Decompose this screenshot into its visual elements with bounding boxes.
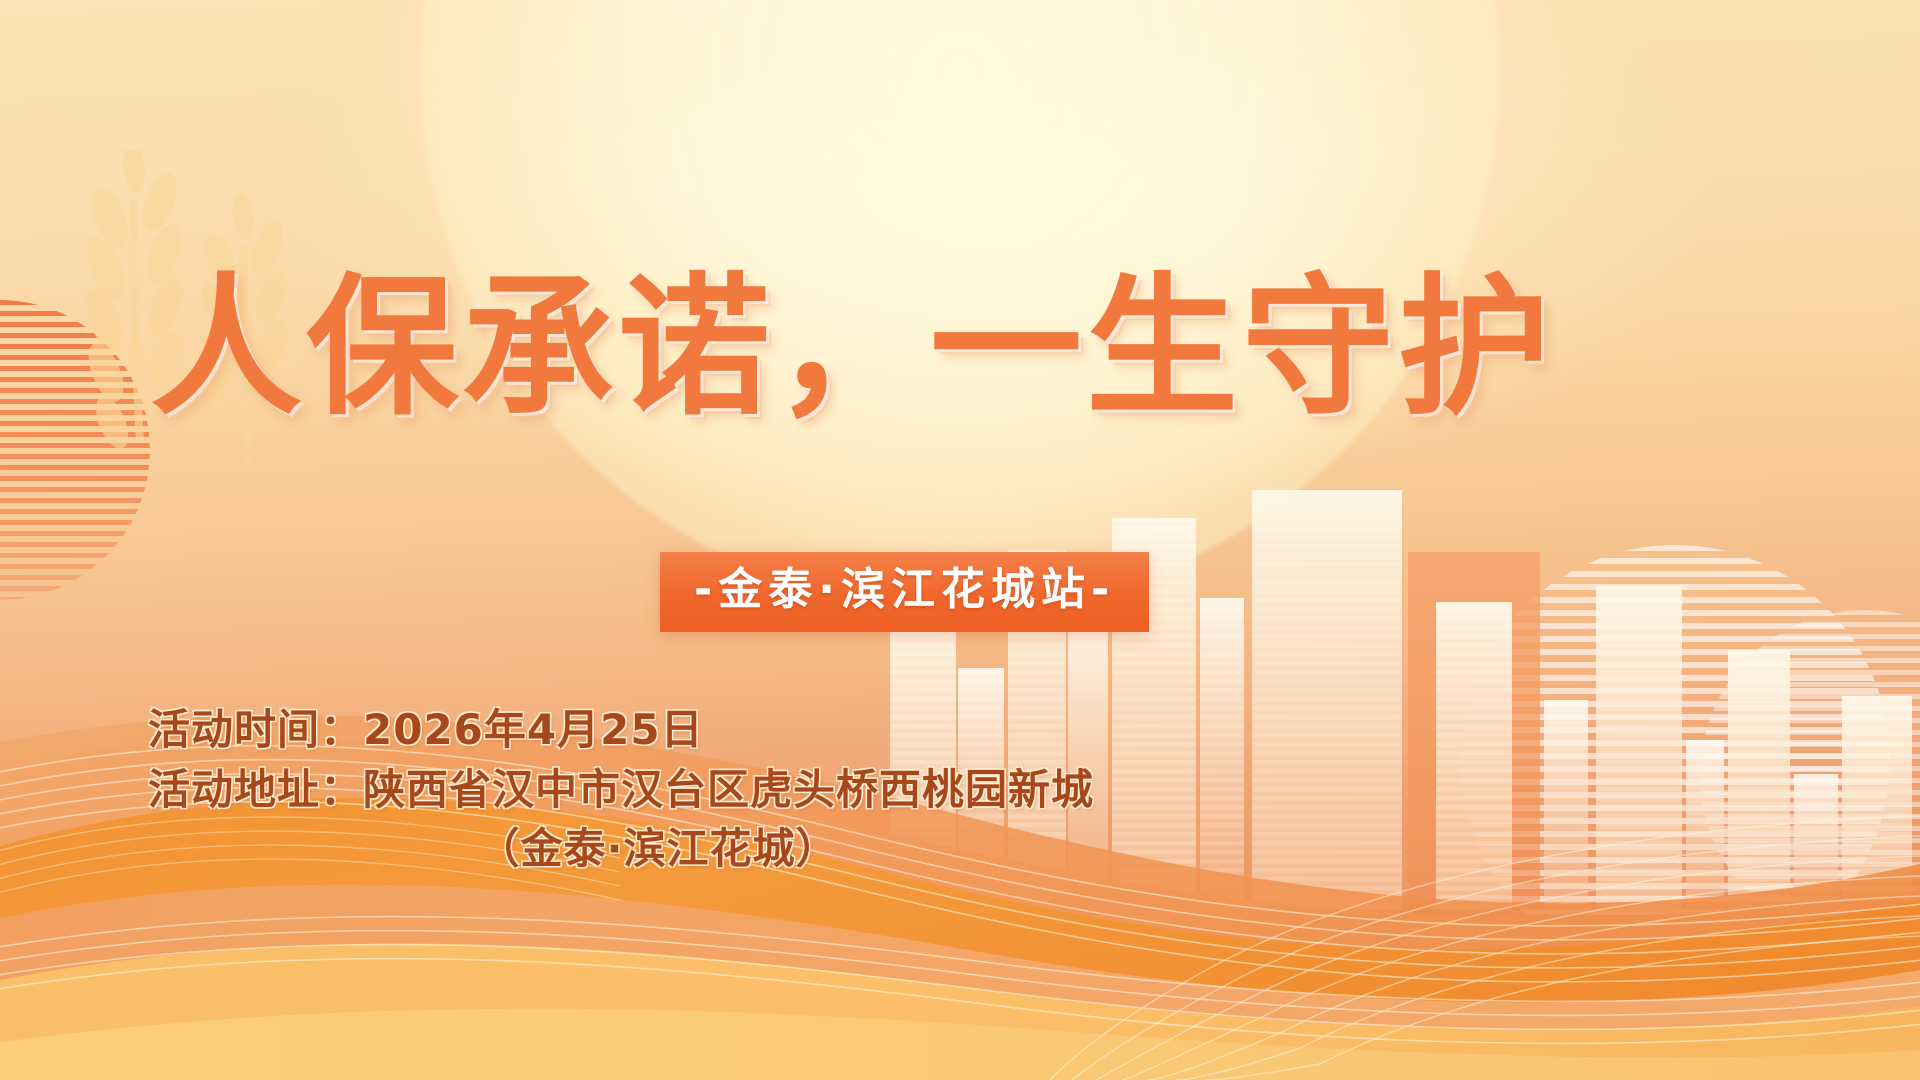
station-badge: -金泰·滨江花城站- [660, 552, 1149, 632]
event-address-line-2: （金泰·滨江花城） [148, 819, 1328, 879]
event-address-line: 活动地址：陕西省汉中市汉台区虎头桥西桃园新城 [148, 760, 1328, 820]
event-time-line: 活动时间：2026年4月25日 [148, 700, 1328, 760]
banner-content: 人保承诺，一生守护 -金泰·滨江花城站- 活动时间：2026年4月25日 活动地… [0, 0, 1920, 1080]
page-title: 人保承诺，一生守护 [150, 272, 1790, 424]
promo-banner: 人保承诺，一生守护 -金泰·滨江花城站- 活动时间：2026年4月25日 活动地… [0, 0, 1920, 1080]
event-info-block: 活动时间：2026年4月25日 活动地址：陕西省汉中市汉台区虎头桥西桃园新城 （… [148, 700, 1328, 879]
